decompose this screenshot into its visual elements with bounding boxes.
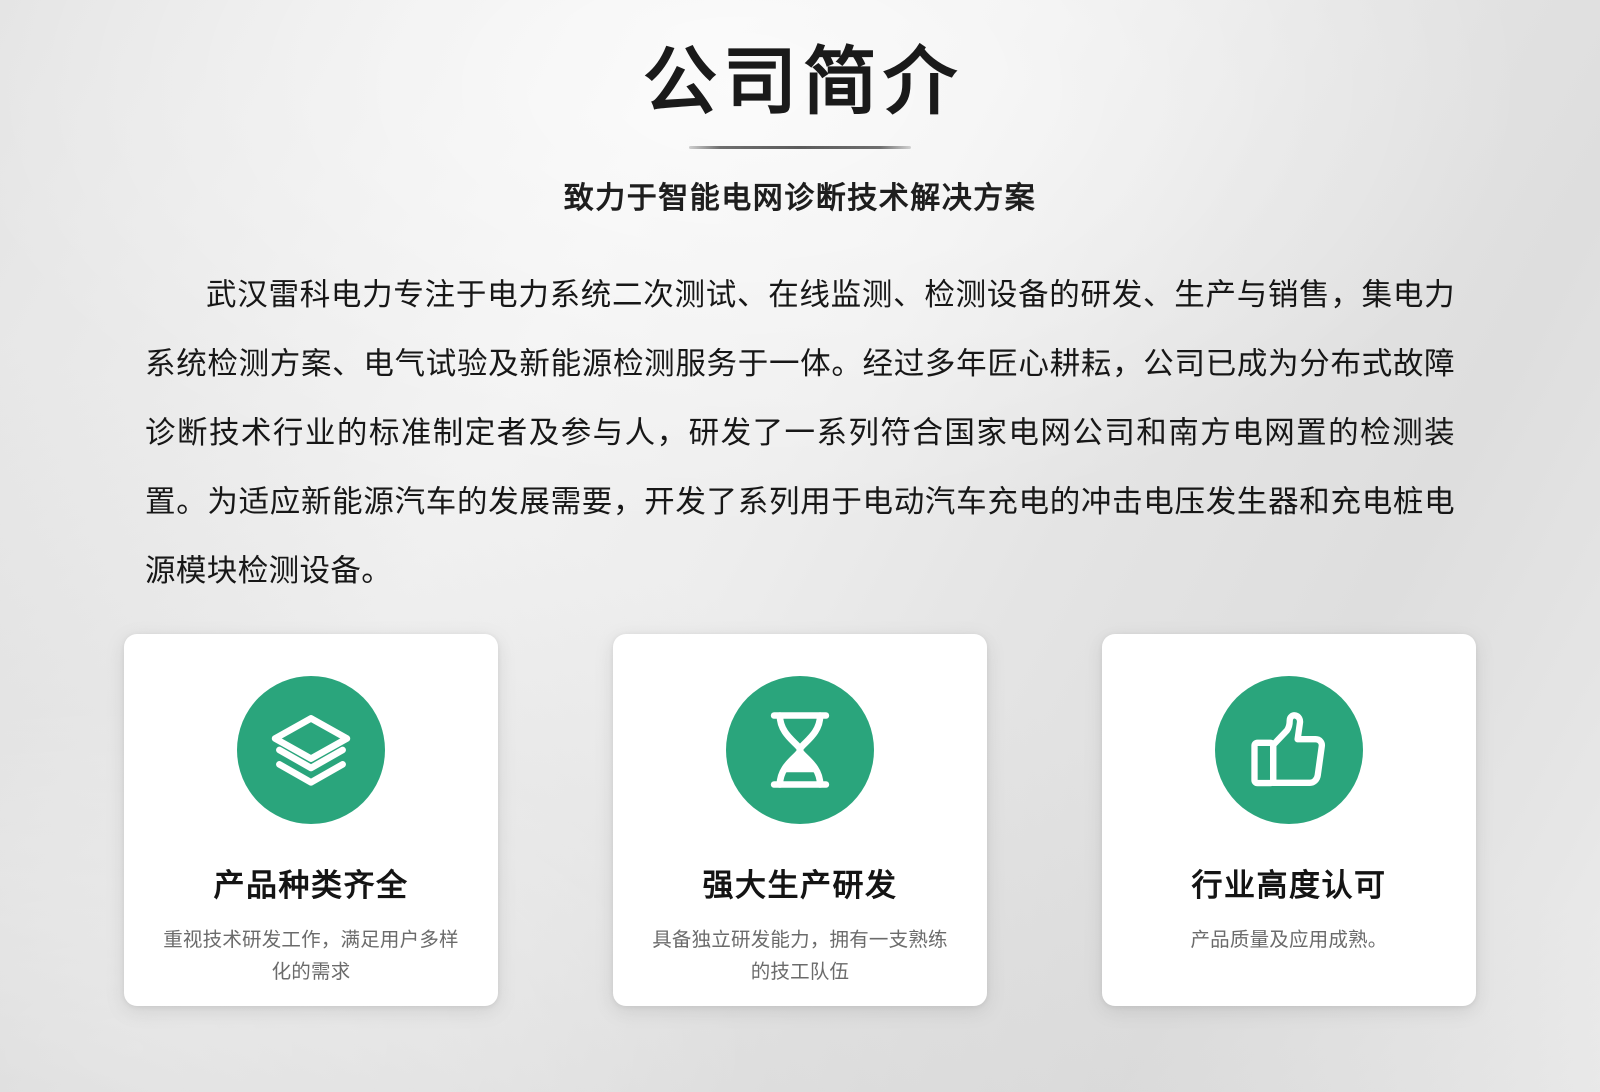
feature-card-title: 产品种类齐全 — [214, 860, 409, 905]
page-title: 公司简介 — [0, 42, 1600, 122]
feature-card-title: 强大生产研发 — [703, 860, 898, 905]
title-divider — [689, 146, 911, 149]
company-intro-paragraph: 武汉雷科电力专注于电力系统二次测试、在线监测、检测设备的研发、生产与销售，集电力… — [145, 261, 1455, 606]
page-root: 公司简介 致力于智能电网诊断技术解决方案 武汉雷科电力专注于电力系统二次测试、在… — [0, 0, 1600, 1092]
page-subtitle: 致力于智能电网诊断技术解决方案 — [0, 173, 1600, 217]
feature-card-title: 行业高度认可 — [1192, 860, 1387, 905]
hourglass-icon — [726, 676, 874, 824]
feature-card-description: 具备独立研发能力，拥有一支熟练的技工队伍 — [650, 924, 950, 988]
section-header: 公司简介 致力于智能电网诊断技术解决方案 — [0, 0, 1600, 217]
title-divider-wrap — [0, 146, 1600, 149]
feature-card[interactable]: 行业高度认可 产品质量及应用成熟。 — [1102, 634, 1476, 1006]
thumbs-up-icon — [1215, 676, 1363, 824]
feature-card[interactable]: 产品种类齐全 重视技术研发工作，满足用户多样化的需求 — [124, 634, 498, 1006]
feature-card[interactable]: 强大生产研发 具备独立研发能力，拥有一支熟练的技工队伍 — [613, 634, 987, 1006]
feature-card-list: 产品种类齐全 重视技术研发工作，满足用户多样化的需求 强大生产研发 具备独立 — [124, 634, 1476, 1006]
feature-card-description: 重视技术研发工作，满足用户多样化的需求 — [161, 924, 461, 988]
layers-icon — [237, 676, 385, 824]
feature-card-description: 产品质量及应用成熟。 — [1139, 924, 1439, 956]
